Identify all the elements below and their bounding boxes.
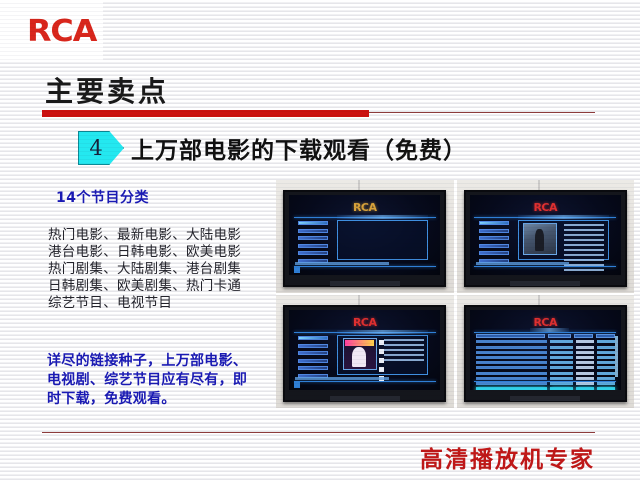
cell [576, 351, 594, 354]
callout-number: 4 [89, 138, 102, 159]
cell [550, 387, 573, 390]
table-row [476, 346, 615, 349]
table-row [476, 366, 615, 369]
tv-stand [330, 281, 400, 286]
cell [476, 366, 547, 369]
title-underline-thin [369, 112, 595, 113]
screen-panel-title [337, 215, 428, 219]
cell [476, 361, 547, 364]
movie-poster [343, 338, 377, 370]
screen-panel-title [518, 215, 609, 219]
cell [476, 351, 547, 354]
cell [550, 340, 573, 343]
screen-panel-title [337, 330, 428, 334]
screen-rca-logo: RCA [470, 316, 621, 329]
callout-heading: 上万部电影的下载观看（免费） [131, 131, 467, 165]
table-row [476, 340, 615, 343]
menu-item [298, 336, 328, 340]
cell [550, 377, 573, 380]
cell [597, 351, 615, 354]
menu-item [479, 251, 509, 255]
photo-tv-download-list: RCA [457, 295, 635, 408]
summary-line: 电视剧、综艺节目应有尽有，即 [47, 371, 247, 390]
tv-stand [510, 396, 580, 401]
category-line: 港台电影、日韩电影、欧美电影 [48, 244, 241, 261]
cell [576, 346, 594, 349]
desc-line [564, 264, 604, 267]
callout-number-badge: 4 [78, 131, 124, 165]
tv-stand [510, 281, 580, 286]
desc-line [564, 254, 604, 257]
screen-menu-list [479, 221, 509, 266]
cell [576, 377, 594, 380]
cell [476, 356, 547, 359]
screen-menu-list [298, 336, 328, 381]
poster-title-band [345, 340, 374, 346]
cell [597, 372, 615, 375]
tv-bezel: RCA [464, 190, 627, 287]
menu-item [298, 251, 328, 255]
menu-item [479, 244, 509, 248]
desc-line [384, 344, 424, 347]
category-count-heading: 14个节目分类 [56, 187, 149, 207]
cell [576, 372, 594, 375]
tv-bezel: RCA [464, 305, 627, 402]
summary-line: 详尽的链接种子，上万部电影、 [47, 352, 247, 371]
screen-footer-note [295, 377, 389, 380]
tv-screen: RCA [289, 310, 440, 390]
tv-screen: RCA [470, 310, 621, 390]
menu-item [298, 359, 328, 363]
table-row-selected [476, 387, 615, 390]
cell [576, 366, 594, 369]
screen-rca-logo: RCA [289, 201, 440, 214]
cell [550, 382, 573, 385]
table-row [476, 351, 615, 354]
desc-line [384, 359, 424, 362]
cell [476, 377, 547, 380]
footer-divider [42, 432, 595, 433]
page-title: 主要卖点 [45, 70, 169, 110]
screen-rca-logo: RCA [470, 201, 621, 214]
desc-line [384, 339, 424, 342]
cell [576, 356, 594, 359]
tv-screen: RCA [470, 195, 621, 275]
menu-item [479, 221, 509, 225]
footer-brand: 高清播放机专家 [420, 440, 595, 474]
desc-line [564, 239, 604, 242]
category-list: 热门电影、最新电影、大陆电影 港台电影、日韩电影、欧美电影 热门剧集、大陆剧集、… [48, 227, 241, 312]
cell [576, 382, 594, 385]
desc-line [564, 249, 604, 252]
cell [576, 387, 594, 390]
tv-bezel: RCA [283, 190, 446, 287]
menu-item [298, 244, 328, 248]
screen-footer-note [295, 262, 389, 265]
cell [476, 382, 547, 385]
cell [550, 372, 573, 375]
cell [476, 340, 547, 343]
table-row [476, 372, 615, 375]
movie-poster [523, 223, 557, 255]
menu-item [298, 351, 328, 355]
screen-footer-note [476, 262, 570, 265]
table-header-cell [548, 334, 572, 338]
menu-item [298, 366, 328, 370]
desc-line [564, 269, 604, 272]
menu-item [298, 236, 328, 240]
cell [576, 340, 594, 343]
download-table [476, 334, 615, 379]
menu-item [479, 236, 509, 240]
table-header-row [476, 334, 615, 338]
screen-content-panel [518, 220, 609, 260]
desc-line [564, 234, 604, 237]
cell [597, 387, 615, 390]
screen-rca-logo: RCA [289, 316, 440, 329]
desc-line [564, 259, 604, 262]
screen-panel-title [530, 328, 569, 332]
menu-item [479, 229, 509, 233]
bullet-dot [379, 367, 384, 372]
screen-content-panel [337, 220, 428, 260]
tv-bezel: RCA [283, 305, 446, 402]
rca-logo-text: RCA [27, 14, 96, 49]
screen-content-panel [337, 335, 428, 375]
screen-corner-marker [294, 381, 300, 388]
cell [550, 361, 573, 364]
desc-line [564, 244, 604, 247]
poster-figure [535, 229, 544, 251]
cell [597, 377, 615, 380]
menu-item [298, 344, 328, 348]
tv-stand [330, 396, 400, 401]
cell [597, 366, 615, 369]
category-line: 综艺节目、电视节目 [48, 295, 241, 312]
table-header-cell [574, 334, 593, 338]
desc-line [384, 354, 424, 357]
rca-logo: RCA [27, 14, 96, 49]
summary-line: 时下载，免费观看。 [47, 390, 247, 409]
slide-canvas: RCA 主要卖点 4 上万部电影的下载观看（免费） 14个节目分类 热门电影、最… [0, 0, 640, 480]
table-row [476, 361, 615, 364]
photo-tv-movie-poster: RCA [276, 295, 454, 408]
desc-line [564, 229, 604, 232]
cell [597, 346, 615, 349]
category-line: 热门电影、最新电影、大陆电影 [48, 227, 241, 244]
photo-tv-menu-empty-panel: RCA [276, 180, 454, 293]
category-line: 日韩剧集、欧美剧集、热门卡通 [48, 278, 241, 295]
cell [597, 361, 615, 364]
screenshot-grid: RCA [276, 180, 634, 408]
table-row [476, 382, 615, 385]
table-row [476, 377, 615, 380]
table-scrollbar[interactable] [615, 336, 618, 378]
cell [476, 372, 547, 375]
cell [597, 340, 615, 343]
desc-line [384, 349, 424, 352]
table-row [476, 356, 615, 359]
screen-corner-marker [294, 266, 300, 273]
table-header-cell [476, 334, 545, 338]
cell [550, 366, 573, 369]
category-line: 热门剧集、大陆剧集、港台剧集 [48, 261, 241, 278]
cell [550, 356, 573, 359]
menu-item [298, 229, 328, 233]
desc-line [564, 224, 604, 227]
tv-screen: RCA [289, 195, 440, 275]
cell [476, 387, 547, 390]
menu-item [298, 221, 328, 225]
cell [597, 382, 615, 385]
screen-menu-list [298, 221, 328, 266]
movie-description [384, 339, 424, 364]
table-header-cell [596, 334, 615, 338]
cell [550, 346, 573, 349]
movie-description [564, 224, 604, 274]
title-underline-thick [42, 110, 369, 117]
cell [550, 351, 573, 354]
summary-text: 详尽的链接种子，上万部电影、 电视剧、综艺节目应有尽有，即 时下载，免费观看。 [47, 352, 247, 409]
callout-banner: 4 上万部电影的下载观看（免费） [78, 131, 467, 165]
cell [476, 346, 547, 349]
poster-figure [352, 347, 366, 367]
cell [597, 356, 615, 359]
photo-tv-movie-detail: RCA [457, 180, 635, 293]
cell [576, 361, 594, 364]
